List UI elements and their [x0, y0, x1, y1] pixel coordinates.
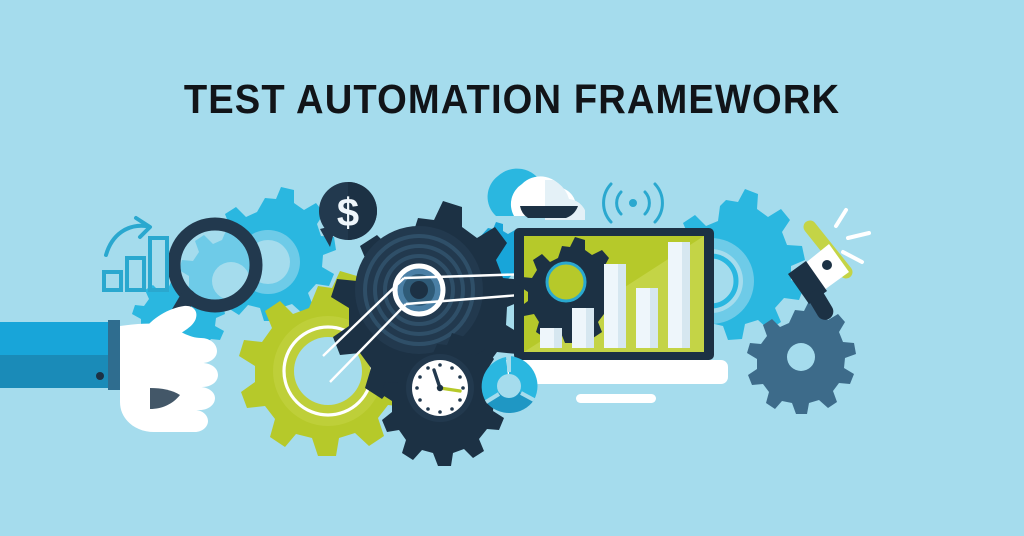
- donut-hole: [497, 374, 521, 398]
- dollar-sign-icon: $: [337, 191, 359, 235]
- sleeve-lower: [0, 355, 118, 388]
- sleeve-button: [96, 372, 104, 380]
- dollar-speech-bubble: $: [319, 182, 377, 247]
- hand-shape: [120, 324, 218, 432]
- megaphone-sound-lines: [836, 210, 869, 262]
- illustration-canvas: $: [0, 0, 1024, 536]
- banner-illustration-page: TEST AUTOMATION FRAMEWORK: [0, 0, 1024, 536]
- cloud-shadow: [520, 206, 578, 218]
- cloud-pair: [488, 169, 585, 220]
- laptop-stand-line: [576, 394, 656, 403]
- sleeve-cuff: [108, 320, 120, 390]
- megaphone: [788, 210, 869, 320]
- growth-bar-chart-icon: [104, 218, 167, 290]
- signal-icon: [604, 184, 663, 222]
- hand-with-sleeve: [0, 306, 218, 432]
- clock-center-pin: [437, 385, 443, 391]
- megaphone-knob: [822, 260, 832, 270]
